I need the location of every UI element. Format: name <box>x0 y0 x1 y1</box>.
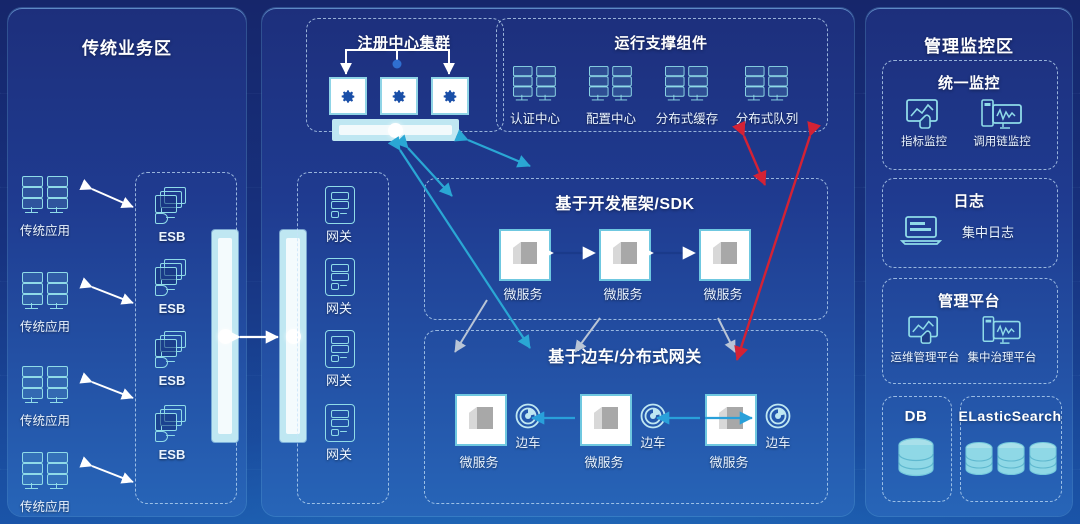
server-stack-icon <box>665 66 708 103</box>
logging-title: 日志 <box>882 190 1056 211</box>
architecture-diagram: 传统业务区 传统应用 传统应用 传统应用 <box>0 0 1080 524</box>
server-stack-icon <box>22 176 68 216</box>
microservice-cube-icon <box>580 394 632 446</box>
gateway-icon <box>325 258 355 296</box>
registry-node-0[interactable] <box>329 77 367 115</box>
monitoring-item-label: 调用链监控 <box>966 133 1038 149</box>
esb-label: ESB <box>146 447 198 462</box>
registry-title: 注册中心集群 <box>306 32 502 53</box>
sidecar-service-label: 微服务 <box>573 452 635 471</box>
gateway-label: 网关 <box>313 226 365 245</box>
gateway-label: 网关 <box>313 370 365 389</box>
trace-monitor-icon <box>980 98 1024 135</box>
microservice-cube-icon <box>705 394 757 446</box>
gateway-icon <box>325 330 355 368</box>
gear-icon <box>338 86 358 106</box>
server-stack-icon <box>513 66 556 103</box>
runtime-item-label: 分布式缓存 <box>644 108 730 127</box>
server-stack-icon <box>22 272 68 312</box>
registry-lb-connector-dot <box>388 123 403 138</box>
sdk-group-title: 基于开发框架/SDK <box>424 190 826 214</box>
esb-icon <box>152 404 192 444</box>
sidecar-icon <box>640 403 666 429</box>
sdk-service-label: 微服务 <box>592 284 654 303</box>
gear-icon <box>440 86 460 106</box>
mgmt-platform-title: 管理平台 <box>882 290 1056 311</box>
sdk-service-label: 微服务 <box>692 284 754 303</box>
sidecar-label: 边车 <box>758 432 798 451</box>
microservice-cube-icon <box>455 394 507 446</box>
logging-item-label: 集中日志 <box>952 222 1024 241</box>
laptop-log-icon <box>900 214 942 251</box>
esb-icon <box>152 186 192 226</box>
management-zone-title: 管理监控区 <box>866 32 1072 57</box>
server-stack-icon <box>745 66 788 103</box>
mgmt-platform-item-label: 运维管理平台 <box>887 349 963 365</box>
sidecar-service-label: 微服务 <box>698 452 760 471</box>
storage-db-title: DB <box>882 408 950 425</box>
esb-label: ESB <box>146 373 198 388</box>
sidecar-label: 边车 <box>508 432 548 451</box>
sidecar-label: 边车 <box>633 432 673 451</box>
runtime-item-label: 配置中心 <box>575 108 647 127</box>
gateway-label: 网关 <box>313 298 365 317</box>
storage-es-title: ELasticSearch <box>957 408 1063 424</box>
governance-platform-icon <box>980 315 1024 350</box>
legacy-app-label: 传统应用 <box>13 496 77 515</box>
database-icon <box>964 441 994 486</box>
server-stack-icon <box>22 452 68 492</box>
server-stack-icon <box>589 66 632 103</box>
gateway-icon <box>325 404 355 442</box>
database-icon <box>896 437 936 488</box>
runtime-item-label: 分布式队列 <box>724 108 810 127</box>
esb-icon <box>152 258 192 298</box>
esb-label: ESB <box>146 229 198 244</box>
runtime-item-label: 认证中心 <box>499 108 571 127</box>
sidecar-icon <box>765 403 791 429</box>
gateway-icon <box>325 186 355 224</box>
sidecar-icon <box>515 403 541 429</box>
esb-label: ESB <box>146 301 198 316</box>
gateway-label: 网关 <box>313 444 365 463</box>
database-icon <box>996 441 1026 486</box>
runtime-components-title: 运行支撑组件 <box>496 32 826 53</box>
server-stack-icon <box>22 366 68 406</box>
microservice-cube-icon <box>599 229 651 281</box>
microservice-cube-icon <box>499 229 551 281</box>
sidecar-group-title: 基于边车/分布式网关 <box>424 343 826 367</box>
registry-node-2[interactable] <box>431 77 469 115</box>
legacy-app-label: 传统应用 <box>13 410 77 429</box>
registry-node-1[interactable] <box>380 77 418 115</box>
sidecar-service-label: 微服务 <box>448 452 510 471</box>
metrics-monitor-icon <box>905 98 943 135</box>
ops-platform-icon <box>906 315 944 350</box>
esb-bus-connector-dot <box>218 329 233 344</box>
database-icon <box>1028 441 1058 486</box>
sdk-service-label: 微服务 <box>492 284 554 303</box>
legacy-app-label: 传统应用 <box>13 316 77 335</box>
gear-icon <box>389 86 409 106</box>
monitoring-title: 统一监控 <box>882 72 1056 93</box>
legacy-app-label: 传统应用 <box>13 220 77 239</box>
esb-icon <box>152 330 192 370</box>
microservice-cube-icon <box>699 229 751 281</box>
monitoring-item-label: 指标监控 <box>890 133 958 149</box>
legacy-zone-title: 传统业务区 <box>8 34 246 59</box>
mgmt-platform-item-label: 集中治理平台 <box>963 349 1041 365</box>
